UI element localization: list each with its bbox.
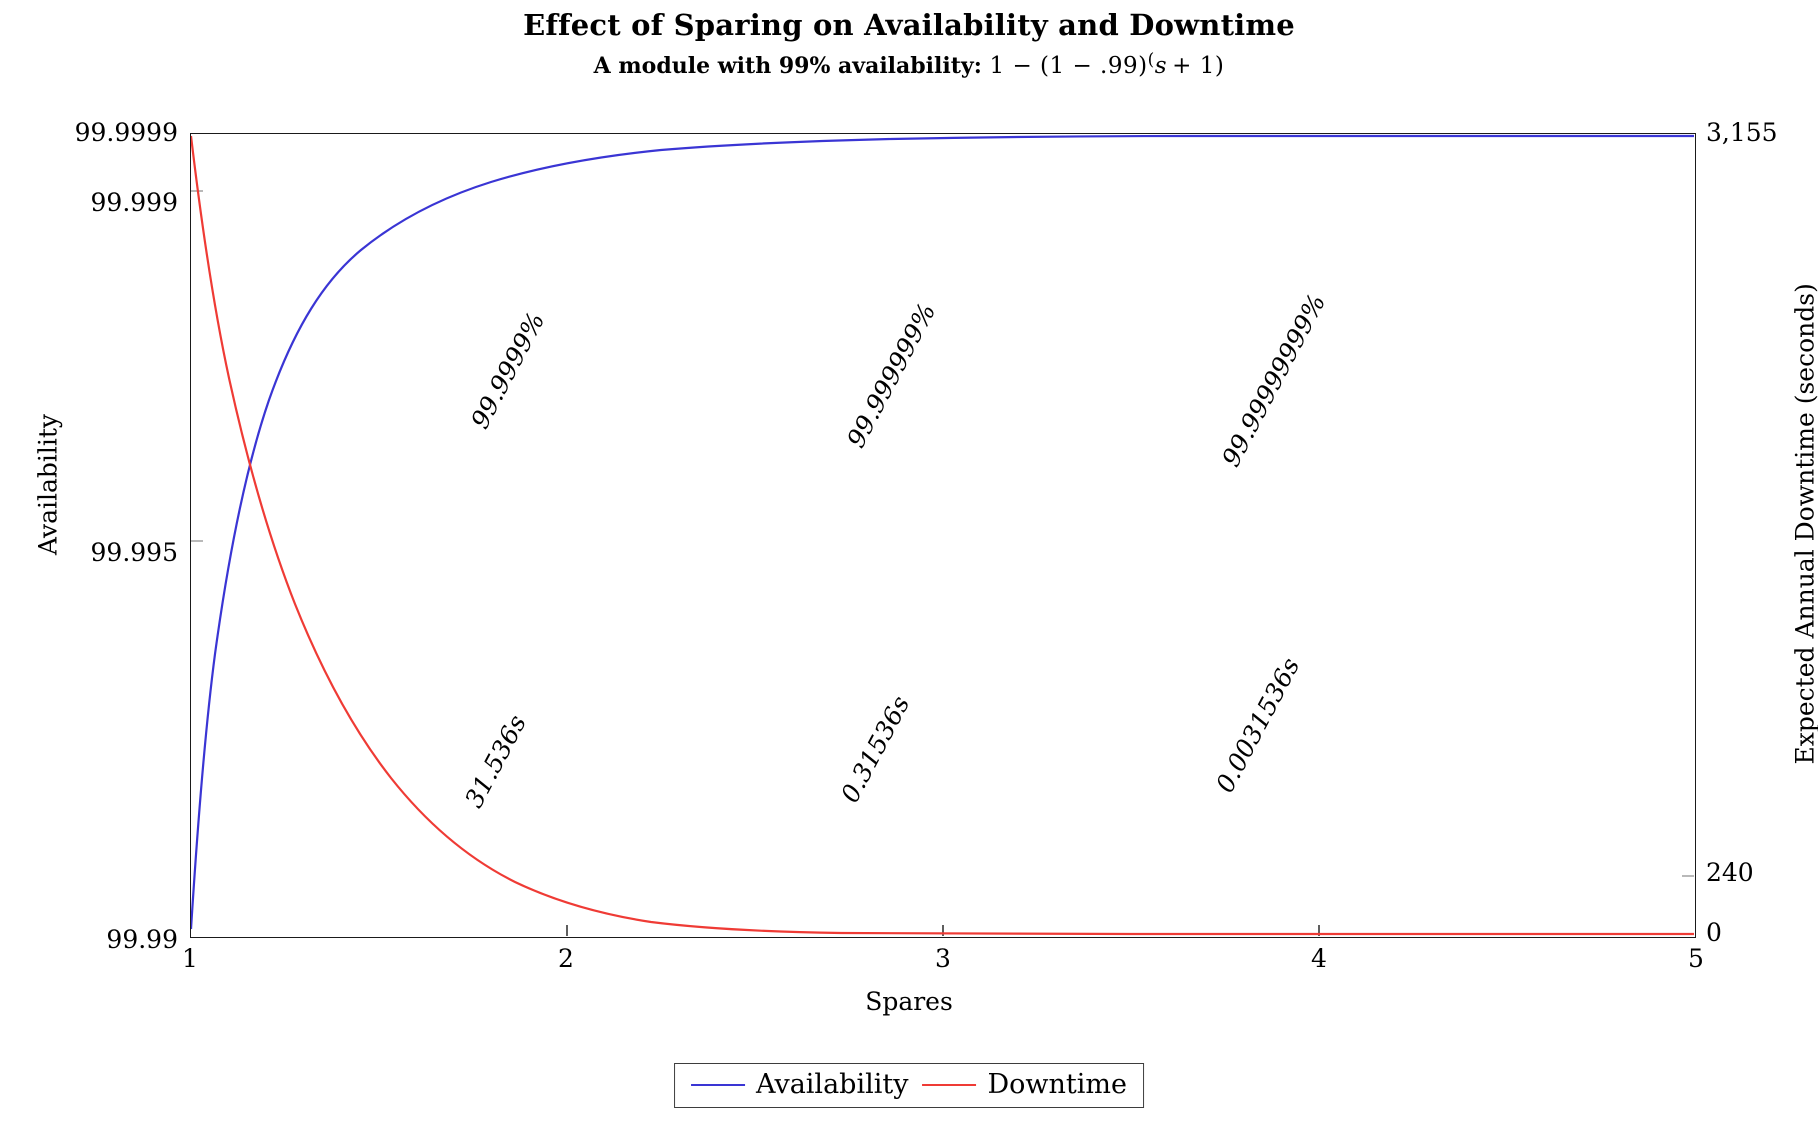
ytick-left-2: 99.995 xyxy=(91,538,178,567)
legend-label-availability: Availability xyxy=(756,1071,908,1098)
legend-swatch-availability-icon xyxy=(691,1084,745,1086)
xtick-4: 5 xyxy=(1666,944,1726,973)
x-axis-label: Spares xyxy=(0,987,1818,1016)
ytick-left-1: 99.999 xyxy=(91,188,178,217)
y-axis-label-left: Availability xyxy=(34,355,63,615)
subtitle-formula: 1 − (1 − .99)(s + 1) xyxy=(990,53,1225,79)
chart-title: Effect of Sparing on Availability and Do… xyxy=(0,8,1818,42)
formula-exponent-var: s xyxy=(1155,53,1167,79)
xtick-0: 1 xyxy=(160,944,220,973)
ytick-right-0: 3,155 xyxy=(1706,118,1778,147)
xtick-3: 4 xyxy=(1289,944,1349,973)
chart-legend: Availability Downtime xyxy=(674,1063,1144,1108)
legend-label-downtime: Downtime xyxy=(987,1071,1126,1098)
xtick-2: 3 xyxy=(913,944,973,973)
formula-exponent-rest: + 1) xyxy=(1172,53,1224,79)
series-availability-line xyxy=(191,136,1694,929)
legend-entry-downtime[interactable]: Downtime xyxy=(922,1071,1126,1098)
plot-svg xyxy=(191,134,1694,936)
y-tick-marks-left xyxy=(191,191,203,541)
chart-figure: Effect of Sparing on Availability and Do… xyxy=(0,0,1818,1132)
formula-open-paren: ( xyxy=(1148,50,1155,70)
chart-subtitle: A module with 99% availability: 1 − (1 −… xyxy=(0,50,1818,79)
legend-swatch-downtime-icon xyxy=(922,1084,976,1086)
ytick-left-0: 99.9999 xyxy=(75,118,178,147)
y-axis-label-right: Expected Annual Downtime (seconds) xyxy=(1791,305,1818,765)
plot-area: 99.9999% 99.999999% 99.99999999% 31.536s… xyxy=(190,133,1696,938)
ytick-right-2: 0 xyxy=(1706,918,1722,947)
series-downtime-line xyxy=(191,136,1694,934)
legend-entry-availability[interactable]: Availability xyxy=(691,1071,908,1098)
ytick-right-1: 240 xyxy=(1706,858,1754,887)
xtick-1: 2 xyxy=(536,944,596,973)
formula-base: 1 − (1 − .99) xyxy=(990,53,1148,79)
subtitle-prefix: A module with 99% availability: xyxy=(594,53,982,79)
